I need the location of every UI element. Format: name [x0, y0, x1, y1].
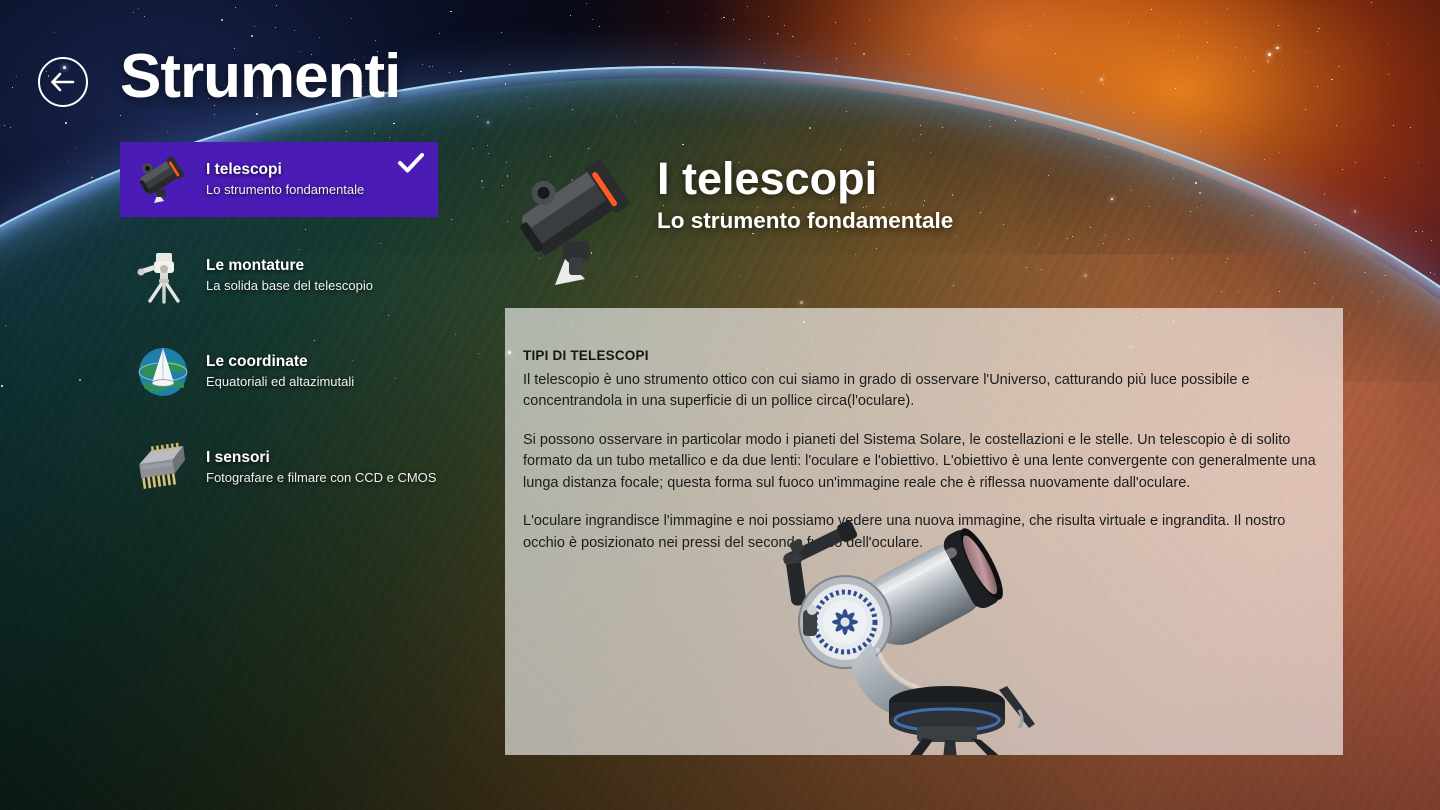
list-item-sensori[interactable]: I sensori Fotografare e filmare con CCD …: [120, 430, 438, 505]
list-item-title: Le coordinate: [206, 352, 438, 371]
back-arrow-icon: [49, 71, 77, 93]
list-item-telescopi[interactable]: I telescopi Lo strumento fondamentale: [120, 142, 438, 217]
app-root: Strumenti: [0, 0, 1440, 810]
page-header: Strumenti: [0, 0, 1440, 130]
list-item-text: Le coordinate Equatoriali ed altazimutal…: [206, 352, 438, 390]
paragraph-1: Il telescopio è uno strumento ottico con…: [523, 370, 1325, 413]
equatorial-mount-icon: [130, 243, 196, 309]
page-title: Strumenti: [120, 46, 400, 108]
list-item-text: Le montature La solida base del telescop…: [206, 256, 438, 294]
list-item-title: Le montature: [206, 256, 438, 275]
list-item-coordinate[interactable]: Le coordinate Equatoriali ed altazimutal…: [120, 334, 438, 409]
list-item-montature[interactable]: Le montature La solida base del telescop…: [120, 238, 438, 313]
maksutov-telescope-photo: [767, 514, 1067, 755]
back-button[interactable]: [38, 57, 88, 107]
telescope-icon: [505, 145, 655, 295]
section-heading: TIPI DI TELESCOPI: [523, 348, 1325, 363]
list-item-subtitle: La solida base del telescopio: [206, 278, 438, 295]
list-item-text: I sensori Fotografare e filmare con CCD …: [206, 448, 438, 486]
list-item-subtitle: Fotografare e filmare con CCD e CMOS: [206, 470, 438, 487]
list-item-title: I sensori: [206, 448, 438, 467]
content-title: I telescopi: [657, 156, 877, 201]
checkmark-icon: [398, 152, 424, 179]
telescope-icon: [130, 147, 196, 213]
list-item-subtitle: Equatoriali ed altazimutali: [206, 374, 438, 391]
list-item-subtitle: Lo strumento fondamentale: [206, 182, 438, 199]
content-subtitle: Lo strumento fondamentale: [657, 210, 953, 233]
globe-coordinates-icon: [130, 339, 196, 405]
content-panel: TIPI DI TELESCOPI Il telescopio è uno st…: [505, 308, 1343, 755]
ccd-chip-icon: [130, 435, 196, 501]
instrument-list: I telescopi Lo strumento fondamentale: [120, 142, 438, 526]
paragraph-2: Si possono osservare in particolar modo …: [523, 430, 1325, 494]
content-header: I telescopi Lo strumento fondamentale: [505, 140, 1385, 300]
